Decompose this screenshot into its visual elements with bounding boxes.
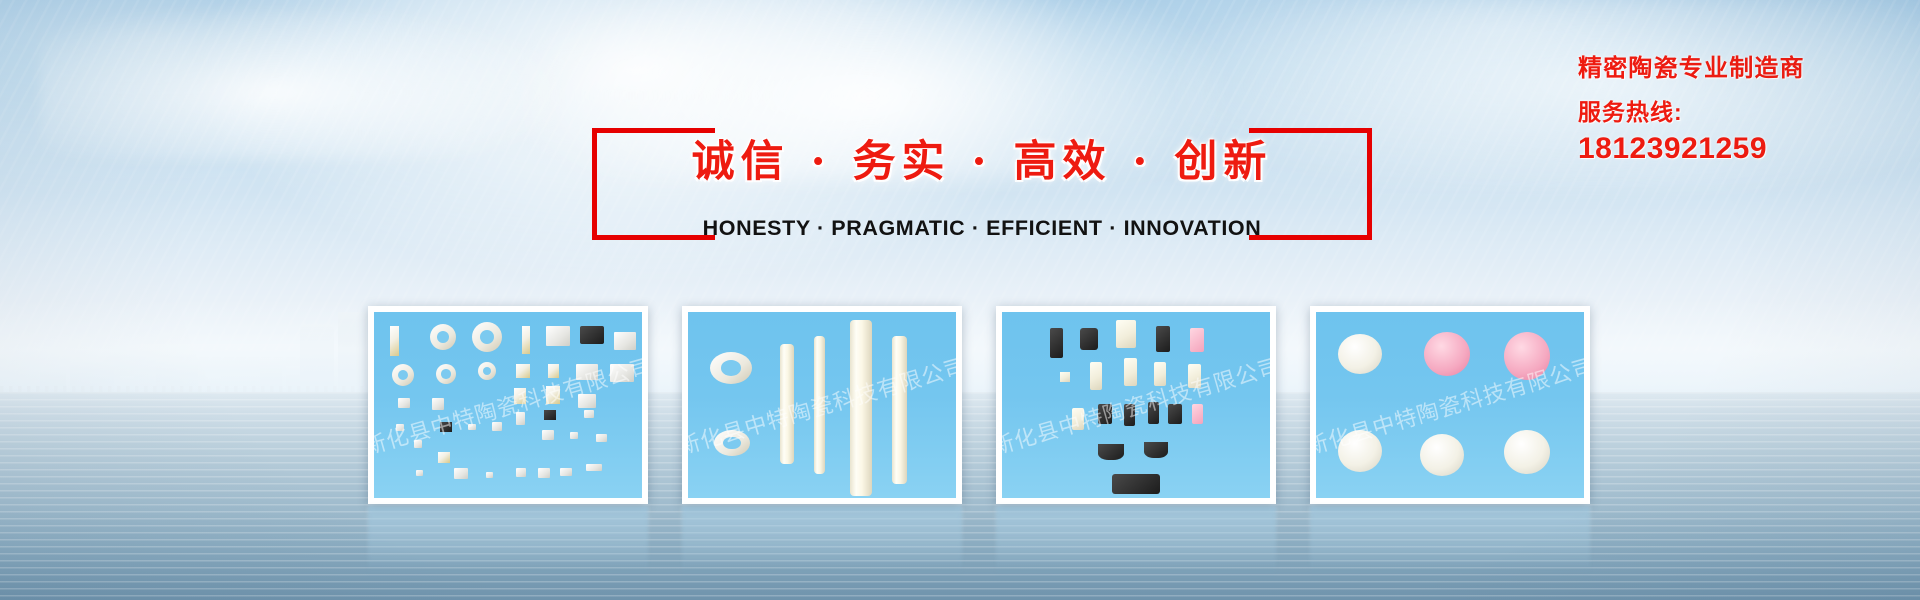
product-photo: 新化县中特陶瓷科技有限公司 (1002, 312, 1270, 498)
hotline-phone-number[interactable]: 18123921259 (1578, 130, 1898, 168)
product-photo: 新化县中特陶瓷科技有限公司 (688, 312, 956, 498)
contact-block: 精密陶瓷专业制造商 服务热线: 18123921259 (1578, 52, 1898, 168)
company-tagline: 精密陶瓷专业制造商 (1578, 52, 1898, 86)
panel-gloss (682, 506, 962, 592)
slogan-english: HONESTY · PRAGMATIC · EFFICIENT · INNOVA… (592, 212, 1372, 244)
product-panel-ceramic-tubes[interactable]: 新化县中特陶瓷科技有限公司 (682, 306, 962, 504)
promo-banner: 诚信 · 务实 · 高效 · 创新 HONESTY · PRAGMATIC · … (0, 0, 1920, 600)
product-photo: 新化县中特陶瓷科技有限公司 (1316, 312, 1584, 498)
product-panel-smd-components[interactable]: 新化县中特陶瓷科技有限公司 (368, 306, 648, 504)
product-panel-ceramic-discs[interactable]: 新化县中特陶瓷科技有限公司 (1310, 306, 1590, 504)
hotline-label: 服务热线: (1578, 96, 1898, 128)
slogan-block: 诚信 · 务实 · 高效 · 创新 HONESTY · PRAGMATIC · … (592, 128, 1372, 240)
product-panel-row: 新化县中特陶瓷科技有限公司 新化县中特陶瓷科技有限公司 (368, 306, 1590, 504)
cloud-left (40, 10, 560, 160)
product-panel-structural-parts[interactable]: 新化县中特陶瓷科技有限公司 (996, 306, 1276, 504)
product-photo: 新化县中特陶瓷科技有限公司 (374, 312, 642, 498)
panel-gloss (1310, 506, 1590, 592)
slogan-chinese: 诚信 · 务实 · 高效 · 创新 (592, 123, 1372, 201)
panel-gloss (368, 506, 648, 592)
panel-gloss (996, 506, 1276, 592)
